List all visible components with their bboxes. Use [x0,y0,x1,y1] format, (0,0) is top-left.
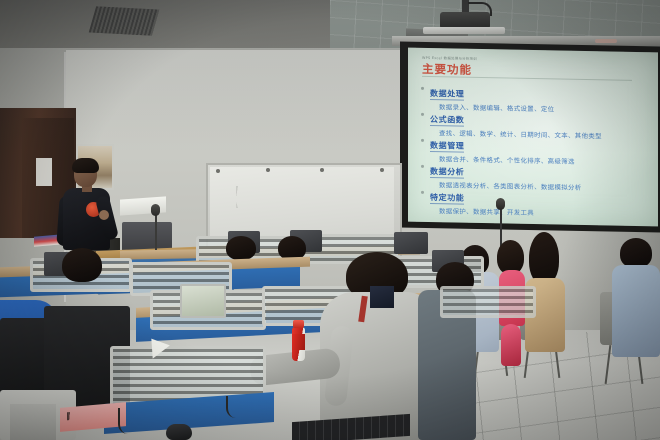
slide-bullet-dot [421,139,424,142]
cable [118,408,154,434]
whiteboard-clip-icon [380,168,384,172]
desk-partition-right [440,286,536,318]
monitor-back [394,232,428,254]
folded-paper [151,337,170,358]
slide-section-5: 特定功能 数据保护、数据共享、开发工具 [430,185,534,217]
projector-base-plate [423,27,505,34]
wall-notice-paper [36,158,52,186]
presenter-hair [72,158,99,173]
slide-section-heading: 数据处理 [430,88,464,101]
ceiling-vent-icon [89,6,159,35]
coke-bottle-cap [293,320,304,328]
slide-bullet-dot [421,113,424,116]
slide-section-heading: 公式函数 [430,114,464,127]
computer-mouse [166,424,192,440]
classroom-photo: WPS Excel 数据处理与分析培训 主要功能 数据处理 数据录入、数据编辑、… [0,0,660,440]
monitor-screen [180,284,226,318]
projection-screen: WPS Excel 数据处理与分析培训 主要功能 数据处理 数据录入、数据编辑、… [408,48,658,227]
slide-bullet-dot [421,191,424,194]
wall-microphone [496,198,505,210]
pink-card-handwriting [67,408,111,420]
whiteboard-clip-icon [320,168,324,172]
whiteboard-clip-icon [266,168,270,172]
whiteboard-clip-icon [216,169,220,173]
slide-section-heading: 数据管理 [430,140,464,153]
slide-bullet-dot [421,87,424,90]
podium-microphone [151,204,160,216]
slide-bullet-dot [421,165,424,168]
attendee-blue-shirt-right [612,238,660,360]
slide-section-items: 数据保护、数据共享、开发工具 [439,206,534,217]
slide-section-heading: 数据分析 [430,166,464,179]
computer-tower-panel [10,404,56,440]
attendee-dark-hair-left [62,248,102,292]
podium-microphone-stand [155,212,157,254]
presenter-hand [99,210,109,220]
screen-roller-knob [595,39,617,43]
cable [226,396,268,418]
whiteboard-writing [236,186,356,208]
slide-section-heading: 特定功能 [430,192,464,205]
coke-bottle-label [292,334,305,350]
